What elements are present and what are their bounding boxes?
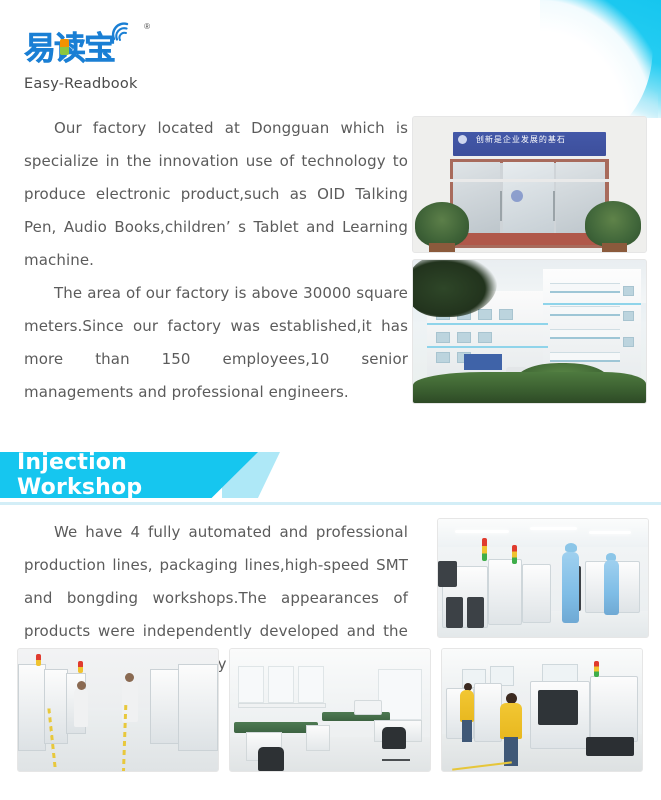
company-paragraph-2: The area of our factory is above 30000 s… bbox=[24, 277, 408, 409]
logo-chinese-wordmark: 易读宝 bbox=[24, 26, 114, 70]
page-curl-decoration bbox=[540, 0, 661, 118]
section-title: Injection Workshop bbox=[17, 450, 258, 500]
workshop-photo-row bbox=[17, 648, 645, 772]
company-paragraph-1: Our factory located at Dongguan which is… bbox=[24, 112, 408, 277]
factory-building-exterior-photo bbox=[412, 259, 647, 404]
page-curl-shadow bbox=[546, 4, 658, 118]
logo-color-accent bbox=[60, 39, 69, 55]
page-curl-fill bbox=[540, 0, 661, 118]
injection-molding-aisle-photo bbox=[17, 648, 219, 772]
company-intro-text: Our factory located at Dongguan which is… bbox=[24, 112, 408, 409]
logo-latin-name: Easy-Readbook bbox=[24, 76, 164, 92]
injection-workshop-banner: Injection Workshop bbox=[0, 452, 330, 498]
banner-main-shape: Injection Workshop bbox=[0, 452, 258, 498]
section-divider-rule bbox=[0, 502, 661, 505]
wifi-signal-icon bbox=[110, 20, 136, 42]
page-curl-peel bbox=[540, 0, 661, 118]
engineering-lab-photo bbox=[229, 648, 431, 772]
factory-office-entrance-photo: 创新是企业发展的基石 bbox=[412, 116, 647, 253]
entrance-sign-text: 创新是企业发展的基石 bbox=[476, 134, 606, 145]
registered-trademark-icon: ® bbox=[144, 22, 150, 31]
smt-cleanroom-photo bbox=[437, 518, 649, 638]
logo-mark: 易读宝 ® bbox=[24, 26, 142, 72]
brand-logo: 易读宝 ® Easy-Readbook bbox=[24, 26, 164, 102]
company-profile-page: 易读宝 ® Easy-Readbook Our factory located … bbox=[0, 0, 661, 800]
lobby-logo-icon bbox=[511, 190, 523, 202]
entrance-sign-logo-icon bbox=[458, 135, 467, 144]
smt-cleanroom-photo-wrap bbox=[437, 518, 649, 638]
company-photo-column: 创新是企业发展的基石 bbox=[412, 116, 647, 404]
smt-production-line-photo bbox=[441, 648, 643, 772]
